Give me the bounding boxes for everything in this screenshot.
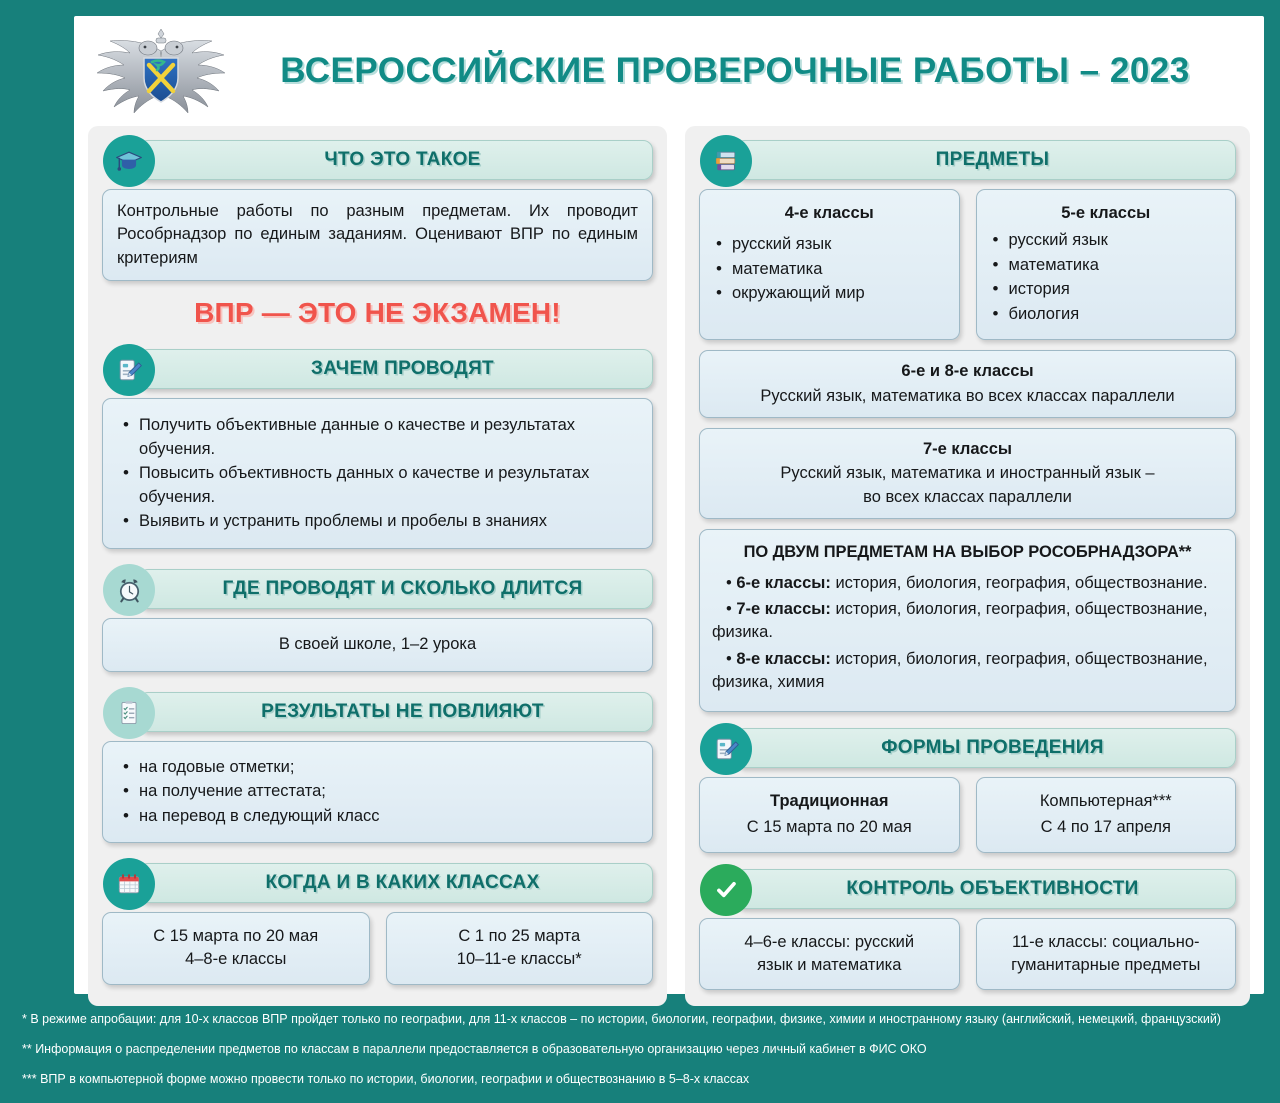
grade5-box: 5-е классы русский язык математика истор… [976, 189, 1237, 340]
section-header-results: РЕЗУЛЬТАТЫ НЕ ПОВЛИЯЮТ [138, 692, 653, 732]
section-header-why: ЗАЧЕМ ПРОВОДЯТ [138, 349, 653, 389]
where-box: В своей школе, 1–2 урока [102, 618, 653, 671]
choice-grade: 6-е классы: [736, 574, 831, 592]
section-header-objectivity: КОНТРОЛЬ ОБЪЕКТИВНОСТИ [735, 869, 1236, 909]
results-box: на годовые отметки; на получение аттеста… [102, 741, 653, 843]
list-item: русский язык [710, 233, 949, 256]
list-item: на получение аттестата; [117, 780, 638, 803]
when-card: С 1 по 25 марта 10–11-е классы* [386, 912, 654, 985]
list-item: Повысить объективность данных о качестве… [117, 462, 638, 509]
what-is-it-box: Контрольные работы по разным предметам. … [102, 189, 653, 281]
objectivity-card: 11-е классы: социально- гуманитарные пре… [976, 918, 1237, 991]
checklist-icon [103, 687, 155, 739]
list-item: история [987, 278, 1226, 301]
check-circle-icon [700, 864, 752, 916]
choice-grade: 7-е классы: [736, 600, 831, 618]
grade7-line1: Русский язык, математика и иностранный я… [710, 462, 1225, 485]
page-title: ВСЕРОССИЙСКИЕ ПРОВЕРОЧНЫЕ РАБОТЫ – 2023 [236, 51, 1264, 91]
alarm-clock-icon [103, 564, 155, 616]
section-title: ЗАЧЕМ ПРОВОДЯТ [297, 358, 494, 380]
when-card-line1: С 1 по 25 марта [395, 925, 645, 948]
why-box: Получить объективные данные о качестве и… [102, 398, 653, 549]
form-card-line2: С 4 по 17 апреля [985, 816, 1228, 839]
when-card-line1: С 15 марта по 20 мая [111, 925, 361, 948]
form-card-line2: С 15 марта по 20 мая [708, 816, 951, 839]
form-card-line1: Традиционная [708, 790, 951, 813]
grade7-title: 7-е классы [710, 438, 1225, 461]
where-text: В своей школе, 1–2 урока [117, 633, 638, 656]
why-list: Получить объективные данные о качестве и… [117, 414, 638, 533]
form-card: Компьютерная*** С 4 по 17 апреля [976, 777, 1237, 853]
objectivity-line1: 4–6-е классы: русский [708, 931, 951, 954]
grade68-box: 6-е и 8-е классы Русский язык, математик… [699, 350, 1236, 418]
section-header-where: ГДЕ ПРОВОДЯТ И СКОЛЬКО ДЛИТСЯ [138, 569, 653, 609]
section-title: КОНТРОЛЬ ОБЪЕКТИВНОСТИ [832, 878, 1138, 900]
what-is-it-text: Контрольные работы по разным предметам. … [117, 200, 638, 270]
document-pencil-icon [103, 344, 155, 396]
grade7-box: 7-е классы Русский язык, математика и ин… [699, 428, 1236, 519]
grade-4-5-cards: 4-е классы русский язык математика окруж… [699, 189, 1236, 340]
section-title: ЧТО ЭТО ТАКОЕ [310, 149, 480, 171]
page-header: ВСЕРОССИЙСКИЕ ПРОВЕРОЧНЫЕ РАБОТЫ – 2023 [74, 16, 1264, 126]
list-item: Получить объективные данные о качестве и… [117, 414, 638, 461]
not-an-exam-banner: ВПР — ЭТО НЕ ЭКЗАМЕН! [102, 297, 653, 329]
when-card-line2: 4–8-е классы [111, 948, 361, 971]
list-item: Выявить и устранить проблемы и пробелы в… [117, 510, 638, 533]
list-item: математика [987, 254, 1226, 277]
section-title: ФОРМЫ ПРОВЕДЕНИЯ [867, 737, 1103, 759]
when-cards: С 15 марта по 20 мая 4–8-е классы С 1 по… [102, 912, 653, 985]
forms-cards: Традиционная С 15 марта по 20 мая Компью… [699, 777, 1236, 853]
objectivity-card: 4–6-е классы: русский язык и математика [699, 918, 960, 991]
choice-subjects-box: ПО ДВУМ ПРЕДМЕТАМ НА ВЫБОР РОСОБРНАДЗОРА… [699, 529, 1236, 712]
rosobrnadzor-emblem-icon [86, 25, 236, 117]
list-item: биология [987, 303, 1226, 326]
grade5-title: 5-е классы [987, 202, 1226, 225]
objectivity-line2: язык и математика [708, 954, 951, 977]
objectivity-line2: гуманитарные предметы [985, 954, 1228, 977]
section-title: РЕЗУЛЬТАТЫ НЕ ПОВЛИЯЮТ [247, 701, 544, 723]
objectivity-cards: 4–6-е классы: русский язык и математика … [699, 918, 1236, 991]
section-title: ПРЕДМЕТЫ [922, 149, 1050, 171]
books-icon [700, 135, 752, 187]
choice-subjects: история, биология, география, обществозн… [831, 574, 1208, 592]
right-column: ПРЕДМЕТЫ 4-е классы русский язык математ… [685, 126, 1250, 1006]
left-column: ЧТО ЭТО ТАКОЕ Контрольные работы по разн… [88, 126, 667, 1006]
when-card-line2: 10–11-е классы* [395, 948, 645, 971]
content-columns: ЧТО ЭТО ТАКОЕ Контрольные работы по разн… [74, 126, 1264, 1006]
infographic-page: ВСЕРОССИЙСКИЕ ПРОВЕРОЧНЫЕ РАБОТЫ – 2023 … [0, 0, 1280, 1103]
main-white-card: ВСЕРОССИЙСКИЕ ПРОВЕРОЧНЫЕ РАБОТЫ – 2023 … [74, 16, 1264, 994]
section-header-subjects: ПРЕДМЕТЫ [735, 140, 1236, 180]
grade7-line2: во всех классах параллели [710, 486, 1225, 509]
choice-item: • 6-е классы: история, биология, географ… [712, 572, 1223, 595]
graduation-cap-icon [103, 135, 155, 187]
footnote-2: ** Информация о распределении предметов … [22, 1040, 1258, 1059]
section-title: ГДЕ ПРОВОДЯТ И СКОЛЬКО ДЛИТСЯ [209, 578, 583, 600]
grade4-list: русский язык математика окружающий мир [710, 233, 949, 305]
list-item: математика [710, 258, 949, 281]
footnote-1: * В режиме апробации: для 10-х классов В… [22, 1010, 1258, 1029]
list-item: на годовые отметки; [117, 756, 638, 779]
list-item: на перевод в следующий класс [117, 805, 638, 828]
list-item: окружающий мир [710, 282, 949, 305]
form-card: Традиционная С 15 марта по 20 мая [699, 777, 960, 853]
choice-grade: 8-е классы: [736, 650, 831, 668]
when-card: С 15 марта по 20 мая 4–8-е классы [102, 912, 370, 985]
footnote-3: *** ВПР в компьютерной форме можно прове… [22, 1070, 1258, 1089]
section-header-when: КОГДА И В КАКИХ КЛАССАХ [138, 863, 653, 903]
grade68-title: 6-е и 8-е классы [710, 360, 1225, 383]
grade4-box: 4-е классы русский язык математика окруж… [699, 189, 960, 340]
choice-title: ПО ДВУМ ПРЕДМЕТАМ НА ВЫБОР РОСОБРНАДЗОРА… [712, 541, 1223, 564]
results-list: на годовые отметки; на получение аттеста… [117, 756, 638, 828]
grade68-text: Русский язык, математика во всех классах… [710, 385, 1225, 408]
objectivity-line1: 11-е классы: социально- [985, 931, 1228, 954]
section-title: КОГДА И В КАКИХ КЛАССАХ [251, 872, 539, 894]
choice-item: • 7-е классы: история, биология, географ… [712, 598, 1223, 645]
calendar-icon [103, 858, 155, 910]
section-header-what-is-it: ЧТО ЭТО ТАКОЕ [138, 140, 653, 180]
document-pencil-icon [700, 723, 752, 775]
footer-notes: * В режиме апробации: для 10-х классов В… [0, 1000, 1280, 1088]
list-item: русский язык [987, 229, 1226, 252]
section-header-forms: ФОРМЫ ПРОВЕДЕНИЯ [735, 728, 1236, 768]
grade5-list: русский язык математика история биология [987, 229, 1226, 326]
grade4-title: 4-е классы [710, 202, 949, 225]
choice-item: • 8-е классы: история, биология, географ… [712, 648, 1223, 695]
form-card-line1: Компьютерная*** [985, 790, 1228, 813]
